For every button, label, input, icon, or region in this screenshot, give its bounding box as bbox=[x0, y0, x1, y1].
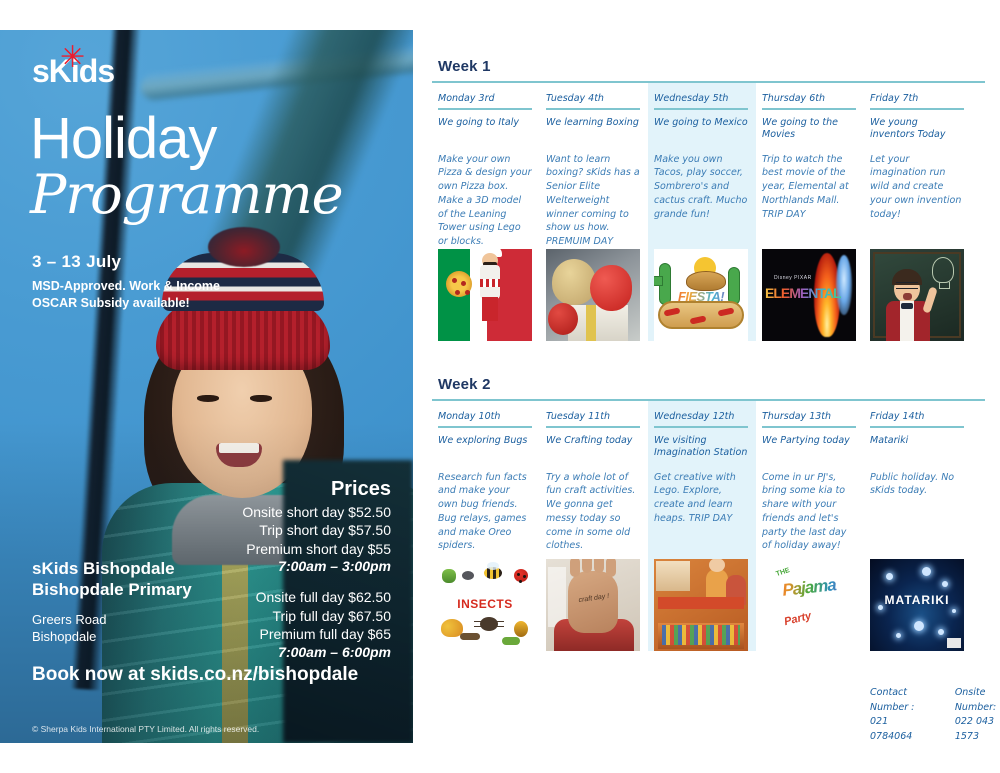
day-column-tuesday-4th[interactable]: Tuesday 4th We learning Boxing Want to l… bbox=[540, 83, 648, 249]
star-icon bbox=[938, 629, 944, 635]
week-2-label: Week 2 bbox=[432, 376, 985, 399]
day-column-monday-3rd[interactable]: Monday 3rd We going to Italy Make your o… bbox=[432, 83, 540, 249]
logo-star-icon: ✳ bbox=[60, 47, 82, 69]
italy-pizza-chef-thumb bbox=[438, 249, 532, 341]
boxing-glove-icon bbox=[590, 265, 632, 311]
pajama-party-text: Party bbox=[783, 609, 813, 627]
centre-details: sKids Bishopdale Bishopdale Primary Gree… bbox=[32, 558, 192, 646]
day-label: Wednesday 5th bbox=[654, 93, 748, 108]
image-cell bbox=[648, 559, 756, 651]
bowtie-icon bbox=[901, 303, 913, 309]
day-column-thursday-13th[interactable]: Thursday 13th We Partying today Come in … bbox=[756, 401, 864, 559]
star-icon bbox=[914, 621, 924, 631]
day-description: Come in ur PJ's, bring some kia to share… bbox=[762, 471, 856, 559]
day-description: Try a whole lot of fun craft activities.… bbox=[546, 471, 640, 559]
pajama-the-text: THE bbox=[775, 567, 790, 578]
address-line-1: Greers Road bbox=[32, 611, 192, 629]
lego-pieces bbox=[662, 625, 740, 645]
day-label: Monday 10th bbox=[438, 411, 532, 426]
day-label: Monday 3rd bbox=[438, 93, 532, 108]
poster-panel: ✳ sKids Holiday Programme 3 – 13 July MS… bbox=[0, 30, 413, 743]
day-description: Want to learn boxing? sKids has a Senior… bbox=[546, 153, 640, 249]
pizza-icon bbox=[446, 271, 472, 297]
day-headline: We Partying today bbox=[762, 435, 856, 465]
centre-name-line-2: Bishopdale Primary bbox=[32, 579, 192, 600]
page-subtitle: Programme bbox=[30, 168, 343, 222]
day-label: Friday 14th bbox=[870, 411, 964, 426]
day-rule bbox=[654, 426, 748, 428]
star-icon bbox=[886, 573, 893, 580]
subsidy-note: MSD-Approved. Work & Income OSCAR Subsid… bbox=[32, 278, 220, 312]
star-icon bbox=[942, 581, 948, 587]
day-description: Get creative with Lego. Explore, create … bbox=[654, 471, 748, 559]
glasses-icon bbox=[896, 282, 918, 289]
boxing-photo-thumb bbox=[546, 249, 640, 341]
skids-logo: ✳ sKids bbox=[32, 55, 114, 87]
matariki-stars-thumb: MATARIKI bbox=[870, 559, 964, 651]
day-label: Wednesday 12th bbox=[654, 411, 748, 426]
day-rule bbox=[762, 426, 856, 428]
insects-title-text: INSECTS bbox=[438, 597, 532, 611]
bee-icon bbox=[484, 567, 502, 579]
day-rule bbox=[546, 108, 640, 110]
price-premium-full: Premium full day $65 bbox=[242, 625, 391, 643]
short-day-hours: 7:00am – 3:00pm bbox=[242, 558, 391, 574]
day-column-monday-10th[interactable]: Monday 10th We exploring Bugs Research f… bbox=[432, 401, 540, 559]
day-headline: We learning Boxing bbox=[546, 117, 640, 147]
spider-icon bbox=[480, 617, 498, 631]
pajama-party-graphic-thumb: THE Pajama Party bbox=[762, 559, 856, 651]
window bbox=[656, 561, 690, 591]
onsite-number-label: Onsite Number: bbox=[955, 686, 1000, 715]
insects-chart-thumb: INSECTS bbox=[438, 559, 532, 651]
day-label: Thursday 13th bbox=[762, 411, 856, 426]
fly-icon bbox=[462, 571, 474, 580]
day-rule bbox=[654, 108, 748, 110]
chef-legs bbox=[482, 297, 498, 321]
wall-poster bbox=[548, 567, 566, 627]
day-headline: We young inventors Today bbox=[870, 117, 964, 147]
wasp-icon bbox=[514, 621, 528, 637]
centre-name-line-1: sKids Bishopdale bbox=[32, 558, 192, 579]
price-trip-short: Trip short day $57.50 bbox=[242, 521, 391, 539]
boxing-glove-icon bbox=[548, 303, 578, 335]
day-headline: We going to the Movies bbox=[762, 117, 856, 147]
prices-block: Prices Onsite short day $52.50 Trip shor… bbox=[242, 478, 391, 660]
table-edge bbox=[658, 597, 744, 609]
elemental-movie-poster-thumb: Disney PIXAR ELEMENTAL bbox=[762, 249, 856, 341]
day-label: Tuesday 4th bbox=[546, 93, 640, 108]
address-line-2: Bishopdale bbox=[32, 628, 192, 646]
day-description: Make your own Pizza & design your own Pi… bbox=[438, 153, 532, 249]
price-onsite-short: Onsite short day $52.50 bbox=[242, 503, 391, 521]
day-rule bbox=[438, 426, 532, 428]
matariki-title-text: MATARIKI bbox=[870, 593, 964, 607]
grasshopper-icon bbox=[502, 637, 520, 645]
schedule-panel: Week 1 Monday 3rd We going to Italy Make… bbox=[432, 0, 1000, 773]
copyright-text: © Sherpa Kids International PTY Limited.… bbox=[32, 724, 259, 734]
boxer-strap bbox=[586, 305, 596, 341]
image-cell bbox=[864, 249, 972, 341]
day-column-thursday-6th[interactable]: Thursday 6th We going to the Movies Trip… bbox=[756, 83, 864, 249]
day-column-wednesday-5th[interactable]: Wednesday 5th We going to Mexico Make yo… bbox=[648, 83, 756, 249]
onsite-number[interactable]: Onsite Number: 022 043 1573 bbox=[955, 686, 1000, 745]
star-icon bbox=[896, 633, 901, 638]
contact-number-label: Contact Number : bbox=[870, 686, 921, 715]
day-headline: We exploring Bugs bbox=[438, 435, 532, 465]
elemental-brand-text: Disney PIXAR bbox=[774, 275, 812, 281]
day-description: Trip to watch the best movie of the year… bbox=[762, 153, 856, 241]
ant-icon bbox=[460, 633, 480, 640]
day-column-friday-7th[interactable]: Friday 7th We young inventors Today Let … bbox=[864, 83, 972, 249]
day-column-friday-14th[interactable]: Friday 14th Matariki Public holiday. No … bbox=[864, 401, 972, 559]
day-headline: We going to Mexico bbox=[654, 117, 748, 147]
image-cell: craft day ! bbox=[540, 559, 648, 651]
day-rule bbox=[870, 108, 964, 110]
elemental-title-text: ELEMENTAL bbox=[765, 285, 841, 301]
craft-day-hand-photo-thumb: craft day ! bbox=[546, 559, 640, 651]
ladybug-icon bbox=[514, 569, 528, 582]
subsidy-line-1: MSD-Approved. Work & Income bbox=[32, 278, 220, 295]
fiesta-graphic-thumb: FIESTA! bbox=[654, 249, 748, 341]
programme-dates: 3 – 13 July bbox=[32, 252, 121, 272]
contact-number-value: 021 0784064 bbox=[870, 715, 921, 744]
day-headline: We Crafting today bbox=[546, 435, 640, 465]
chef-apron bbox=[480, 279, 500, 287]
week-1-images: FIESTA! Disney PIXAR ELEMENTAL bbox=[432, 249, 985, 341]
day-headline: Matariki bbox=[870, 435, 964, 465]
day-rule bbox=[870, 426, 964, 428]
centre-address: Greers Road Bishopdale bbox=[32, 611, 192, 646]
image-cell: MATARIKI bbox=[864, 559, 972, 651]
image-cell: Disney PIXAR ELEMENTAL bbox=[756, 249, 864, 341]
week-2-section: Week 2 Monday 10th We exploring Bugs Res… bbox=[432, 376, 985, 651]
fiesta-text: FIESTA! bbox=[666, 289, 736, 304]
caterpillar-icon bbox=[442, 569, 456, 583]
subsidy-line-2: OSCAR Subsidy available! bbox=[32, 295, 220, 312]
week-1-label: Week 1 bbox=[432, 58, 985, 81]
price-premium-short: Premium short day $55 bbox=[242, 540, 391, 558]
week-2-columns: Monday 10th We exploring Bugs Research f… bbox=[432, 401, 985, 559]
onsite-number-value: 022 043 1573 bbox=[955, 715, 1000, 744]
pajama-word-text: Pajama bbox=[765, 574, 852, 600]
day-column-tuesday-11th[interactable]: Tuesday 11th We Crafting today Try a who… bbox=[540, 401, 648, 559]
week-1-section: Week 1 Monday 3rd We going to Italy Make… bbox=[432, 58, 985, 341]
day-rule bbox=[546, 426, 640, 428]
day-headline: We going to Italy bbox=[438, 117, 532, 147]
boxer-hair bbox=[552, 259, 596, 305]
lightbulb-icon bbox=[932, 257, 954, 283]
week-2-images: INSECTS bbox=[432, 559, 985, 651]
day-label: Friday 7th bbox=[870, 93, 964, 108]
logo-badge bbox=[947, 638, 961, 648]
image-cell bbox=[432, 249, 540, 341]
day-rule bbox=[762, 108, 856, 110]
price-onsite-full: Onsite full day $62.50 bbox=[242, 588, 391, 606]
week-1-columns: Monday 3rd We going to Italy Make your o… bbox=[432, 83, 985, 249]
page-title: Holiday bbox=[30, 110, 216, 168]
day-description: Make you own Tacos, play soccer, Sombrer… bbox=[654, 153, 748, 241]
day-rule bbox=[438, 108, 532, 110]
day-label: Tuesday 11th bbox=[546, 411, 640, 426]
book-now-link[interactable]: Book now at skids.co.nz/bishopdale bbox=[32, 664, 358, 686]
day-description: Research fun facts and make your own bug… bbox=[438, 471, 532, 559]
image-cell: FIESTA! bbox=[648, 249, 756, 341]
day-description: Public holiday. No sKids today. bbox=[870, 471, 964, 559]
day-label: Thursday 6th bbox=[762, 93, 856, 108]
star-icon bbox=[952, 609, 956, 613]
imagination-station-photo-thumb bbox=[654, 559, 748, 651]
prices-title: Prices bbox=[242, 478, 391, 501]
price-trip-full: Trip full day $67.50 bbox=[242, 607, 391, 625]
kid-mouth bbox=[903, 293, 912, 300]
day-column-wednesday-12th[interactable]: Wednesday 12th We visiting Imagination S… bbox=[648, 401, 756, 559]
star-icon bbox=[922, 567, 931, 576]
day-description: Let your imagination run wild and create… bbox=[870, 153, 964, 241]
young-inventor-photo-thumb bbox=[870, 249, 964, 341]
full-day-hours: 7:00am – 6:00pm bbox=[242, 644, 391, 660]
image-cell: THE Pajama Party bbox=[756, 559, 864, 651]
sombrero-icon bbox=[686, 271, 726, 291]
day-headline: We visiting Imagination Station bbox=[654, 435, 748, 465]
contact-number[interactable]: Contact Number : 021 0784064 bbox=[870, 686, 921, 745]
contacts-row: Contact Number : 021 0784064 Onsite Numb… bbox=[870, 686, 1000, 745]
image-cell: INSECTS bbox=[432, 559, 540, 651]
image-cell bbox=[540, 249, 648, 341]
